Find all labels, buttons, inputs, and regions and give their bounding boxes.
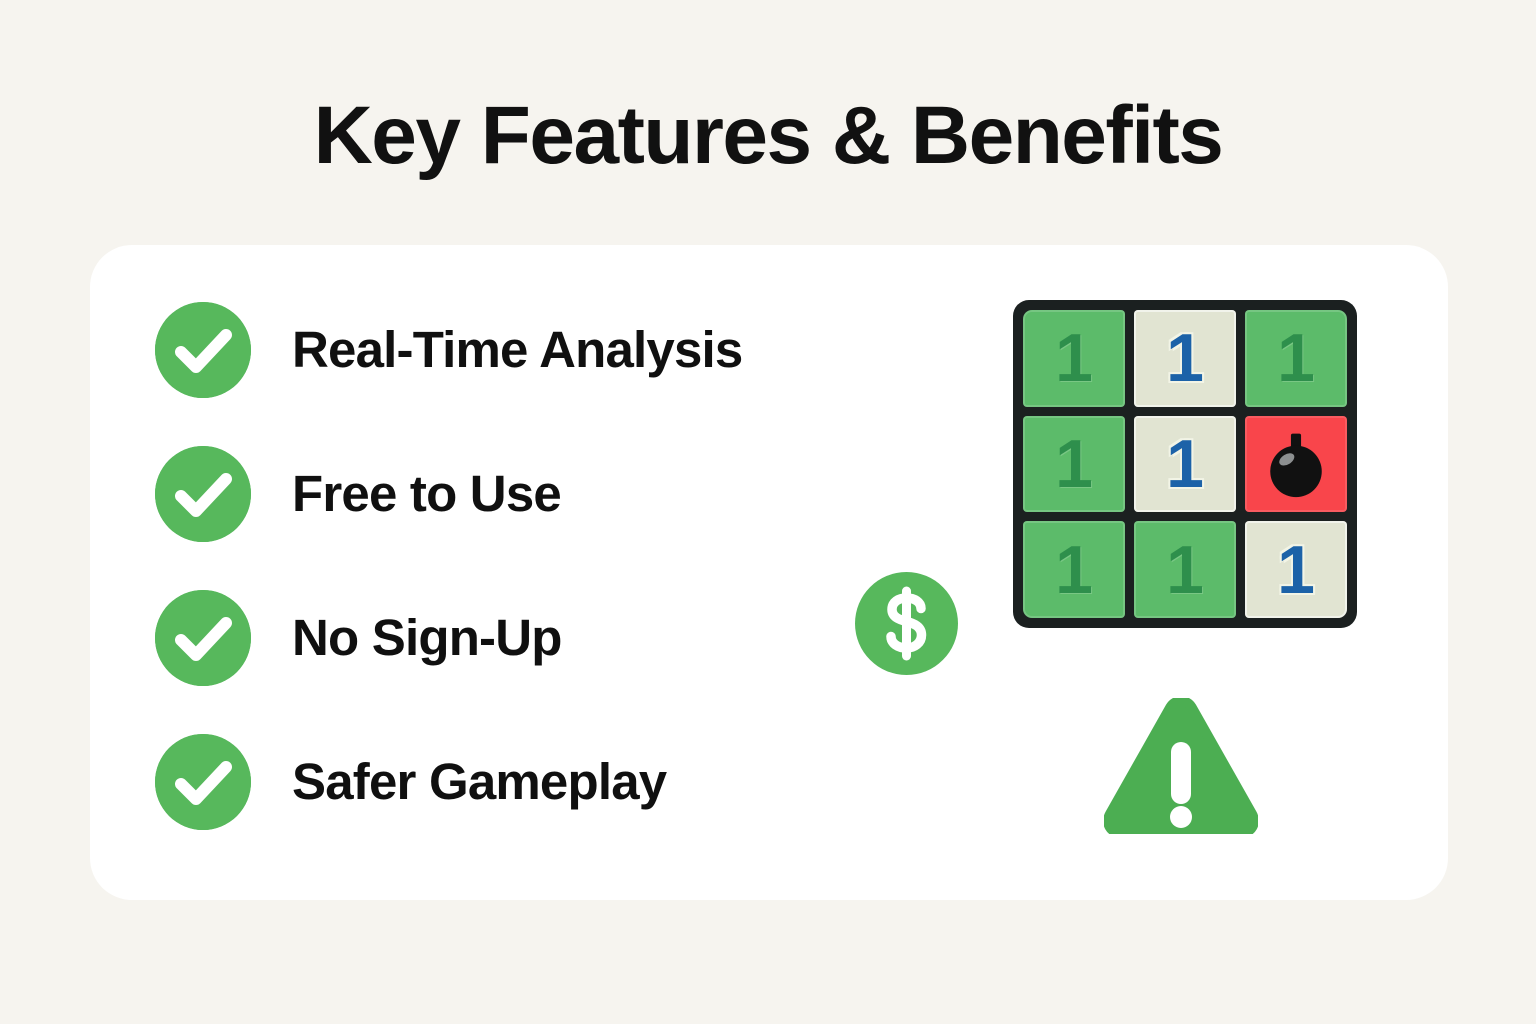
- feature-label: Free to Use: [292, 460, 561, 528]
- minesweeper-cell[interactable]: 1: [1023, 416, 1125, 513]
- features-card: Real-Time Analysis Free to Use: [90, 245, 1448, 900]
- infographic-canvas: Key Features & Benefits Real-Time Analys…: [0, 0, 1536, 1024]
- feature-label: No Sign-Up: [292, 604, 562, 672]
- list-item: Real-Time Analysis: [155, 302, 855, 446]
- check-circle-icon: [155, 590, 251, 686]
- check-circle-icon: [155, 302, 251, 398]
- minesweeper-cell[interactable]: 1: [1023, 310, 1125, 407]
- feature-label: Safer Gameplay: [292, 748, 666, 816]
- bomb-icon: [1245, 416, 1347, 513]
- check-circle-icon: [155, 446, 251, 542]
- minesweeper-board: 1 1 1 1 1: [1013, 300, 1357, 628]
- cell-value: 1: [1166, 324, 1204, 392]
- minesweeper-cell[interactable]: 1: [1023, 521, 1125, 618]
- dollar-sign-badge-icon: [855, 572, 958, 675]
- page-title: Key Features & Benefits: [0, 88, 1536, 184]
- list-item: No Sign-Up: [155, 590, 855, 734]
- check-circle-icon: [155, 734, 251, 830]
- minesweeper-cell[interactable]: 1: [1245, 310, 1347, 407]
- cell-value: 1: [1166, 536, 1204, 604]
- cell-value: 1: [1055, 430, 1093, 498]
- feature-list: Real-Time Analysis Free to Use: [155, 302, 855, 878]
- minesweeper-cell[interactable]: 1: [1134, 416, 1236, 513]
- list-item: Safer Gameplay: [155, 734, 855, 878]
- cell-value: 1: [1166, 430, 1204, 498]
- cell-value: 1: [1277, 536, 1315, 604]
- feature-label: Real-Time Analysis: [292, 316, 742, 384]
- minesweeper-cell[interactable]: 1: [1245, 521, 1347, 618]
- minesweeper-cell[interactable]: 1: [1134, 521, 1236, 618]
- cell-value: 1: [1277, 324, 1315, 392]
- warning-triangle-icon: [1104, 698, 1258, 834]
- cell-value: 1: [1055, 536, 1093, 604]
- minesweeper-mine-cell[interactable]: [1245, 416, 1347, 513]
- cell-value: 1: [1055, 324, 1093, 392]
- minesweeper-cell[interactable]: 1: [1134, 310, 1236, 407]
- list-item: Free to Use: [155, 446, 855, 590]
